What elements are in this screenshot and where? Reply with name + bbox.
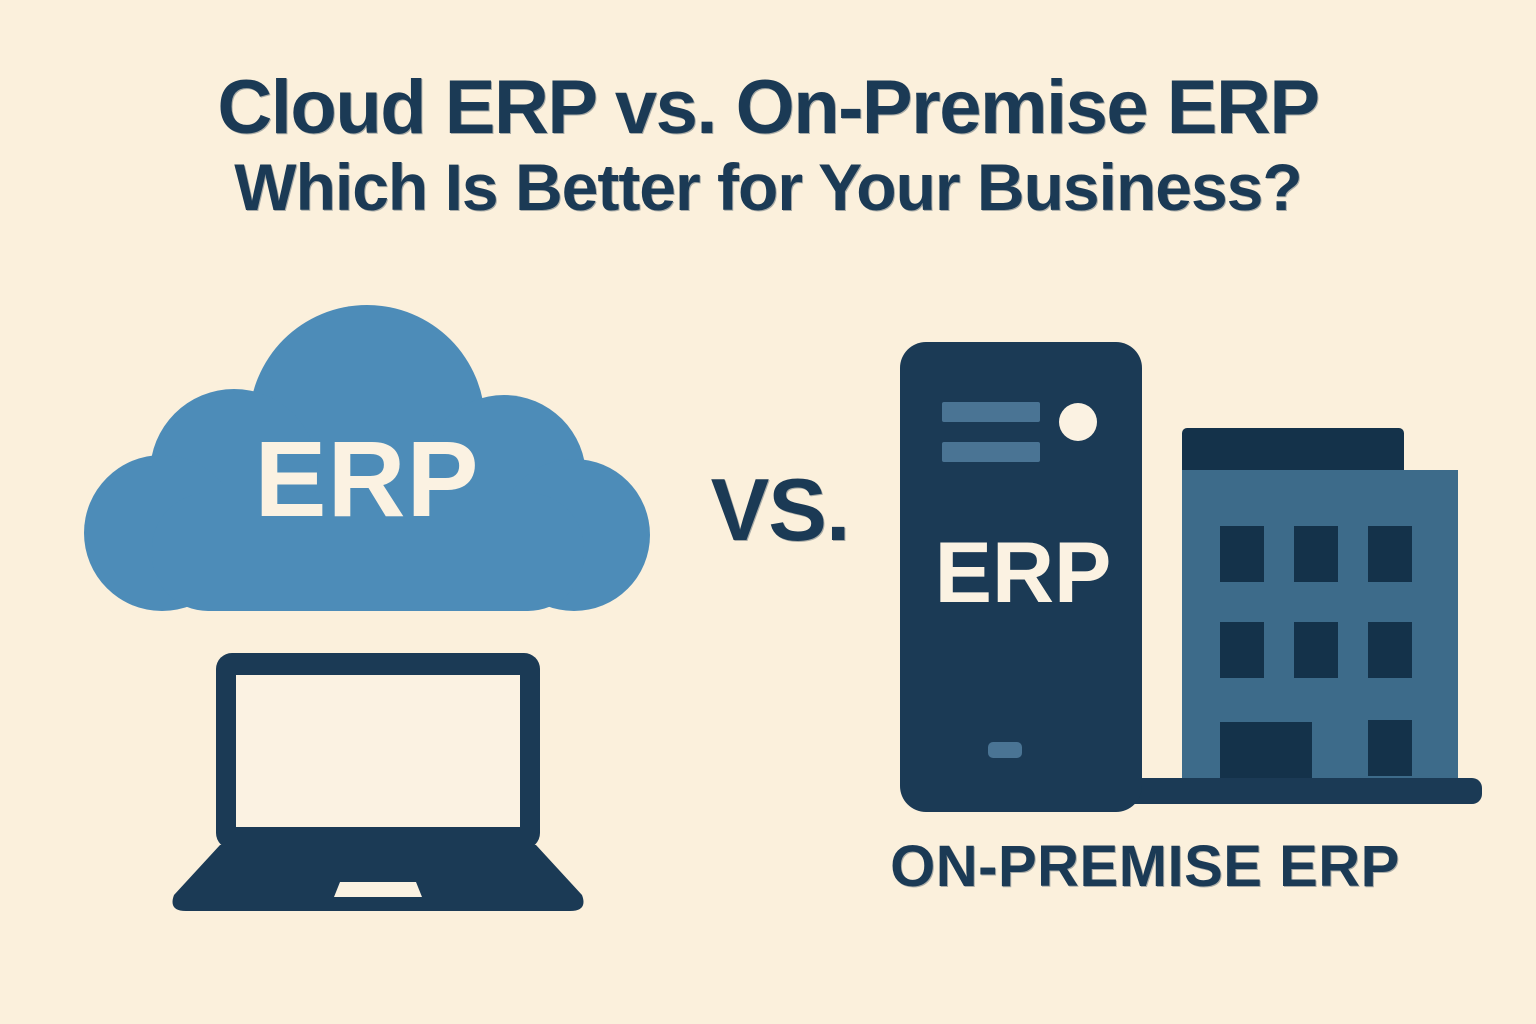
cloud-icon: ERP [84,305,650,625]
page-subtitle: Which Is Better for Your Business? [0,153,1536,222]
onpremise-icon-group: ERP [890,330,1490,830]
cloud-erp-label: ERP [84,425,650,533]
office-building-icon [1182,428,1458,780]
onpremise-caption: ON-PREMISE ERP [820,838,1470,896]
page-title: Cloud ERP vs. On-Premise ERP [0,68,1536,147]
laptop-icon [168,645,588,920]
heading-block: Cloud ERP vs. On-Premise ERP Which Is Be… [0,68,1536,222]
server-erp-label: ERP [902,530,1144,616]
infographic-canvas: Cloud ERP vs. On-Premise ERP Which Is Be… [0,0,1536,1024]
versus-label: VS. [680,466,880,554]
